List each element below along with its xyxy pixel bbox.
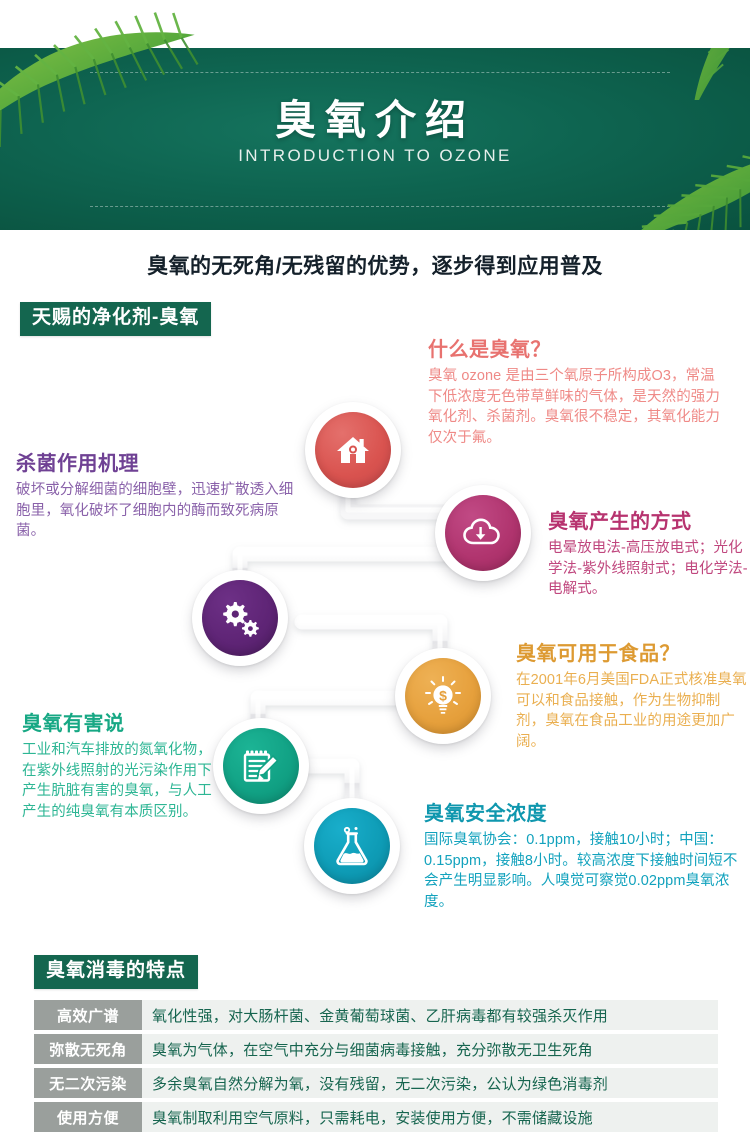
flask-icon <box>331 824 373 868</box>
table-row-key: 无二次污染 <box>34 1068 142 1098</box>
node-food-use-disc: $ <box>405 658 481 734</box>
node-food-use[interactable]: $ <box>395 648 491 744</box>
node-home-disc <box>315 412 391 488</box>
node-generation-disc <box>445 495 521 571</box>
text-block-body: 破坏或分解细菌的细胞壁，迅速扩散透入细胞里，氧化破坏了细胞内的酶而致死病原菌。 <box>16 480 302 542</box>
text-block-safe-concentration: 臭氧安全浓度 国际臭氧协会：0.1ppm，接触10小时；中国：0.15ppm，接… <box>424 802 750 912</box>
ozone-introduction-page: 臭氧介绍 INTRODUCTION TO OZONE <box>0 0 750 1141</box>
text-block-harm-theory: 臭氧有害说 工业和汽车排放的氮氧化物，在紫外线照射的光污染作用下产生肮脏有害的臭… <box>22 712 222 822</box>
section-subtitle: 臭氧的无死角/无残留的优势，逐步得到应用普及 <box>0 250 750 280</box>
lightbulb-dollar-icon: $ <box>421 674 465 718</box>
text-block-title: 臭氧产生的方式 <box>548 510 748 535</box>
text-block-title: 什么是臭氧？ <box>428 338 728 363</box>
cloud-download-icon <box>461 515 505 551</box>
node-safe-concentration-disc <box>314 808 390 884</box>
table-row-key: 弥散无死角 <box>34 1034 142 1064</box>
header-dashed-line-top <box>90 72 670 73</box>
text-block-title: 臭氧安全浓度 <box>424 802 750 827</box>
notepad-pencil-icon <box>240 745 282 787</box>
page-header: 臭氧介绍 INTRODUCTION TO OZONE <box>0 48 750 230</box>
table-row: 弥散无死角 臭氧为气体，在空气中充分与细菌病毒接触，充分弥散无卫生死角 <box>34 1034 718 1064</box>
node-harm-theory-disc <box>223 728 299 804</box>
table-row-value: 多余臭氧自然分解为氧，没有残留，无二次污染，公认为绿色消毒剂 <box>142 1068 718 1098</box>
table-row-key: 使用方便 <box>34 1102 142 1132</box>
table-row-value: 氧化性强，对大肠杆菌、金黄葡萄球菌、乙肝病毒都有较强杀灭作用 <box>142 1000 718 1030</box>
node-home[interactable] <box>305 402 401 498</box>
node-harm-theory[interactable] <box>213 718 309 814</box>
header-dashed-line-bottom <box>90 206 670 207</box>
node-generation[interactable] <box>435 485 531 581</box>
text-block-body: 工业和汽车排放的氮氧化物，在紫外线照射的光污染作用下产生肮脏有害的臭氧，与人工产… <box>22 740 222 822</box>
page-title-english: INTRODUCTION TO OZONE <box>0 146 750 166</box>
text-block-food-use: 臭氧可用于食品？ 在2001年6月美国FDA正式核准臭氧可以和食品接触，作为生物… <box>516 642 748 752</box>
svg-text:$: $ <box>439 687 447 703</box>
page-title: 臭氧介绍 <box>0 86 750 146</box>
text-block-title: 杀菌作用机理 <box>16 452 302 477</box>
node-mechanism[interactable] <box>192 570 288 666</box>
table-row-value: 臭氧制取利用空气原料，只需耗电，安装使用方便，不需储藏设施 <box>142 1102 718 1132</box>
infographic-diagram: $ <box>0 330 750 930</box>
table-row: 无二次污染 多余臭氧自然分解为氧，没有残留，无二次污染，公认为绿色消毒剂 <box>34 1068 718 1098</box>
table-row-key: 高效广谱 <box>34 1000 142 1030</box>
node-mechanism-disc <box>202 580 278 656</box>
text-block-generation-methods: 臭氧产生的方式 电晕放电法-高压放电式；光化学法-紫外线照射式；电化学法-电解式… <box>548 510 748 600</box>
text-block-sterilization-mechanism: 杀菌作用机理 破坏或分解细菌的细胞壁，迅速扩散透入细胞里，氧化破坏了细胞内的酶而… <box>16 452 302 542</box>
table-row-value: 臭氧为气体，在空气中充分与细菌病毒接触，充分弥散无卫生死角 <box>142 1034 718 1064</box>
text-block-title: 臭氧可用于食品？ <box>516 642 748 667</box>
table-row: 使用方便 臭氧制取利用空气原料，只需耗电，安装使用方便，不需储藏设施 <box>34 1102 718 1132</box>
node-safe-concentration[interactable] <box>304 798 400 894</box>
banner-label-features: 臭氧消毒的特点 <box>34 955 198 989</box>
text-block-body: 在2001年6月美国FDA正式核准臭氧可以和食品接触，作为生物抑制剂，臭氧在食品… <box>516 670 748 752</box>
text-block-what-is-ozone: 什么是臭氧？ 臭氧 ozone 是由三个氧原子所构成O3，常温下低浓度无色带草鲜… <box>428 338 728 448</box>
home-icon <box>333 430 373 470</box>
text-block-title: 臭氧有害说 <box>22 712 222 737</box>
features-table: 高效广谱 氧化性强，对大肠杆菌、金黄葡萄球菌、乙肝病毒都有较强杀灭作用 弥散无死… <box>34 1000 718 1136</box>
text-block-body: 国际臭氧协会：0.1ppm，接触10小时；中国：0.15ppm，接触8小时。较高… <box>424 830 750 912</box>
text-block-body: 臭氧 ozone 是由三个氧原子所构成O3，常温下低浓度无色带草鲜味的气体，是天… <box>428 366 728 448</box>
gears-icon <box>218 598 262 638</box>
text-block-body: 电晕放电法-高压放电式；光化学法-紫外线照射式；电化学法-电解式。 <box>548 538 748 600</box>
table-row: 高效广谱 氧化性强，对大肠杆菌、金黄葡萄球菌、乙肝病毒都有较强杀灭作用 <box>34 1000 718 1030</box>
